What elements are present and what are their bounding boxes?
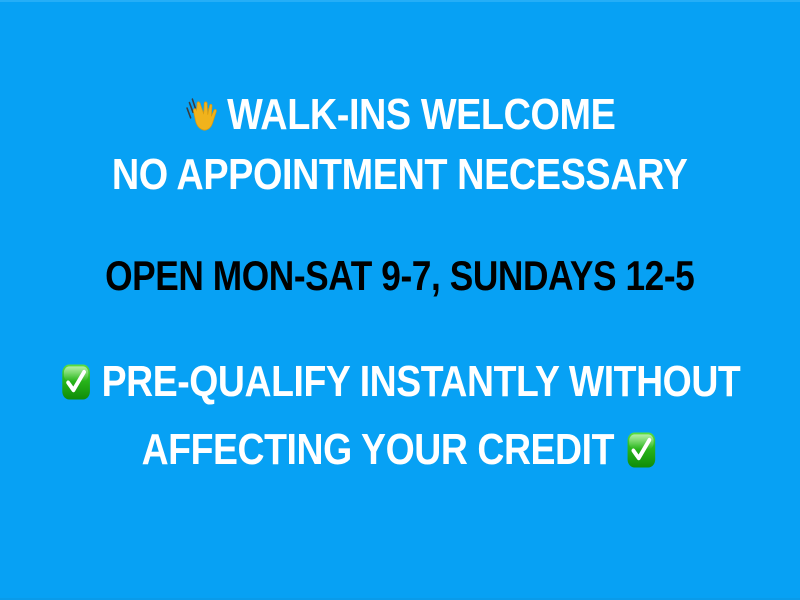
welcome-block: WALK-INS WELCOME NO APPOINTMENT NECESSAR… xyxy=(0,92,800,198)
affecting-credit-line: AFFECTING YOUR CREDIT xyxy=(142,427,659,473)
promotional-sign: WALK-INS WELCOME NO APPOINTMENT NECESSAR… xyxy=(0,0,800,600)
hours-block: OPEN MON-SAT 9-7, SUNDAYS 12-5 xyxy=(0,254,800,298)
prequalify-line: PRE-QUALIFY INSTANTLY WITHOUT xyxy=(59,359,740,405)
opening-hours-line: OPEN MON-SAT 9-7, SUNDAYS 12-5 xyxy=(105,254,694,298)
check-mark-button-icon xyxy=(59,362,93,402)
check-mark-button-icon xyxy=(624,430,658,470)
prequalify-block: PRE-QUALIFY INSTANTLY WITHOUT AFFECTING … xyxy=(0,359,800,473)
no-appointment-line: NO APPOINTMENT NECESSARY xyxy=(112,152,688,198)
walkins-welcome-text: WALK-INS WELCOME xyxy=(227,92,615,138)
waving-hand-icon xyxy=(184,93,222,137)
affecting-credit-text: AFFECTING YOUR CREDIT xyxy=(142,427,614,473)
opening-hours-text: OPEN MON-SAT 9-7, SUNDAYS 12-5 xyxy=(105,254,694,298)
prequalify-text: PRE-QUALIFY INSTANTLY WITHOUT xyxy=(102,359,741,405)
walkins-welcome-line: WALK-INS WELCOME xyxy=(184,92,615,138)
no-appointment-text: NO APPOINTMENT NECESSARY xyxy=(112,152,688,198)
